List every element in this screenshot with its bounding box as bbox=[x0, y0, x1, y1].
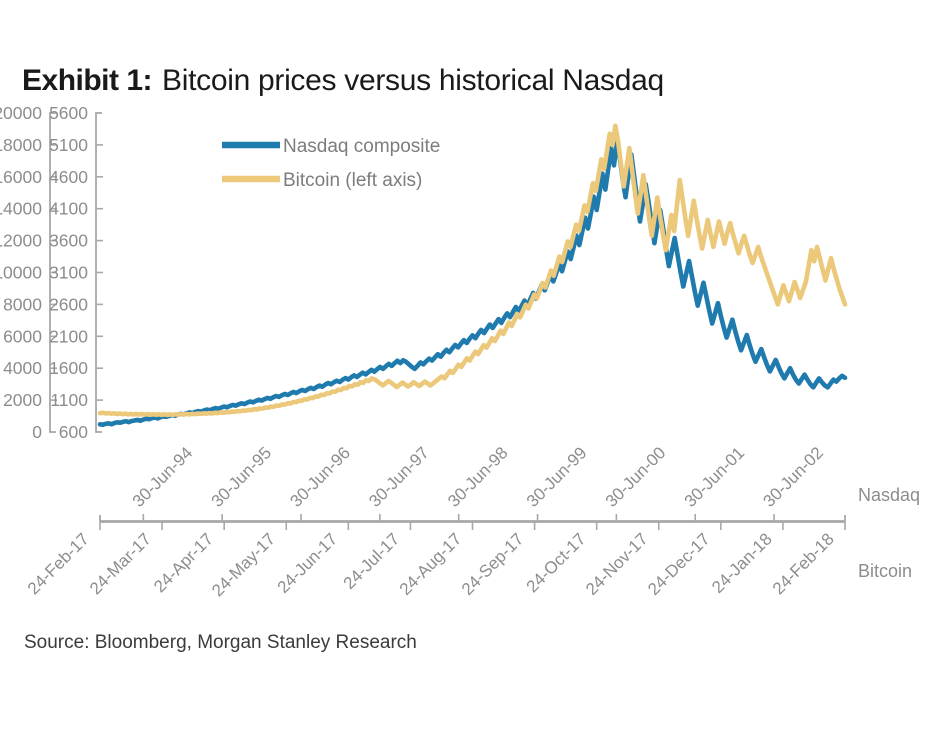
left-axis-tick-label: 14000 bbox=[0, 199, 42, 219]
bitcoin-date-tick-label: 24-May-17 bbox=[208, 529, 279, 600]
left-axis-tick-label: 4000 bbox=[3, 358, 42, 378]
bitcoin-date-tick-label: 24-Apr-17 bbox=[150, 529, 217, 596]
secondary-axis-tick-label: 5600 bbox=[49, 103, 88, 123]
exhibit-label: Exhibit 1: bbox=[22, 64, 152, 97]
nasdaq-date-tick-label: 30-Jun-99 bbox=[523, 443, 591, 511]
bitcoin-date-tick-label: 24-Aug-17 bbox=[396, 529, 466, 599]
bitcoin-date-tick-label: 24-Feb-17 bbox=[24, 529, 93, 598]
chart-title-row: Exhibit 1:Bitcoin prices versus historic… bbox=[22, 64, 664, 98]
page-title: Bitcoin prices versus historical Nasdaq bbox=[162, 64, 664, 97]
bitcoin-axis-name: Bitcoin bbox=[858, 561, 912, 581]
nasdaq-date-tick-label: 30-Jun-01 bbox=[681, 443, 749, 511]
left-axis-tick-label: 16000 bbox=[0, 167, 42, 187]
secondary-axis-tick-label: 4600 bbox=[49, 167, 88, 187]
chart-legend: Nasdaq compositeBitcoin (left axis) bbox=[222, 136, 440, 191]
nasdaq-date-tick-label: 30-Jun-94 bbox=[129, 443, 197, 511]
secondary-value-axis: 6001100160021002600310036004100460051005… bbox=[49, 103, 103, 442]
bitcoin-date-tick-label: 24-Jun-17 bbox=[274, 529, 342, 597]
bitcoin-date-tick-label: 24-Jul-17 bbox=[340, 529, 404, 593]
secondary-axis-tick-label: 3600 bbox=[49, 231, 88, 251]
bitcoin-date-tick-label: 24-Mar-17 bbox=[86, 529, 155, 598]
secondary-axis-tick-label: 5100 bbox=[49, 135, 88, 155]
secondary-axis-tick-label: 1600 bbox=[49, 358, 88, 378]
series-lines bbox=[100, 126, 845, 425]
left-axis-tick-label: 2000 bbox=[3, 390, 42, 410]
bitcoin-series-line bbox=[100, 126, 845, 415]
nasdaq-series-line bbox=[100, 143, 845, 425]
bitcoin-date-tick-label: 24-Feb-18 bbox=[769, 529, 838, 598]
nasdaq-axis-name: Nasdaq bbox=[858, 485, 920, 505]
nasdaq-date-tick-label: 30-Jun-95 bbox=[208, 443, 276, 511]
source-note: Source: Bloomberg, Morgan Stanley Resear… bbox=[24, 632, 417, 654]
secondary-axis-tick-label: 1100 bbox=[50, 390, 88, 410]
bitcoin-date-tick-label: 24-Sep-17 bbox=[458, 529, 528, 599]
nasdaq-date-tick-label: 30-Jun-98 bbox=[444, 443, 512, 511]
nasdaq-date-axis: 30-Jun-9430-Jun-9530-Jun-9630-Jun-9730-J… bbox=[100, 443, 920, 521]
left-axis-tick-label: 6000 bbox=[3, 326, 42, 346]
legend-label: Nasdaq composite bbox=[283, 136, 440, 157]
secondary-axis-tick-label: 2600 bbox=[49, 294, 88, 314]
secondary-axis-tick-label: 3100 bbox=[49, 263, 88, 283]
left-axis-tick-label: 20000 bbox=[0, 103, 42, 123]
bitcoin-date-axis: 24-Feb-1724-Mar-1724-Apr-1724-May-1724-J… bbox=[24, 522, 912, 600]
exhibit-chart-figure: Exhibit 1:Bitcoin prices versus historic… bbox=[0, 0, 939, 739]
secondary-axis-tick-label: 2100 bbox=[49, 326, 88, 346]
chart-plot-area: 0200040006000800010000120001400016000180… bbox=[0, 96, 939, 626]
bitcoin-date-tick-label: 24-Oct-17 bbox=[523, 529, 590, 596]
legend-label: Bitcoin (left axis) bbox=[283, 170, 422, 191]
left-axis-tick-label: 10000 bbox=[0, 263, 42, 283]
secondary-axis-tick-label: 4100 bbox=[49, 199, 88, 219]
nasdaq-date-tick-label: 30-Jun-00 bbox=[602, 443, 670, 511]
left-axis-tick-label: 0 bbox=[32, 422, 42, 442]
bitcoin-date-tick-label: 24-Jan-18 bbox=[708, 529, 776, 597]
left-axis-tick-label: 8000 bbox=[3, 294, 42, 314]
nasdaq-date-tick-label: 30-Jun-97 bbox=[365, 443, 433, 511]
nasdaq-date-tick-label: 30-Jun-96 bbox=[286, 443, 354, 511]
bitcoin-date-tick-label: 24-Nov-17 bbox=[582, 529, 652, 599]
secondary-axis-tick-label: 600 bbox=[59, 422, 88, 442]
nasdaq-date-tick-label: 30-Jun-02 bbox=[759, 443, 827, 511]
left-axis-tick-label: 12000 bbox=[0, 231, 42, 251]
bitcoin-date-tick-label: 24-Dec-17 bbox=[644, 529, 714, 599]
left-axis-tick-label: 18000 bbox=[0, 135, 42, 155]
